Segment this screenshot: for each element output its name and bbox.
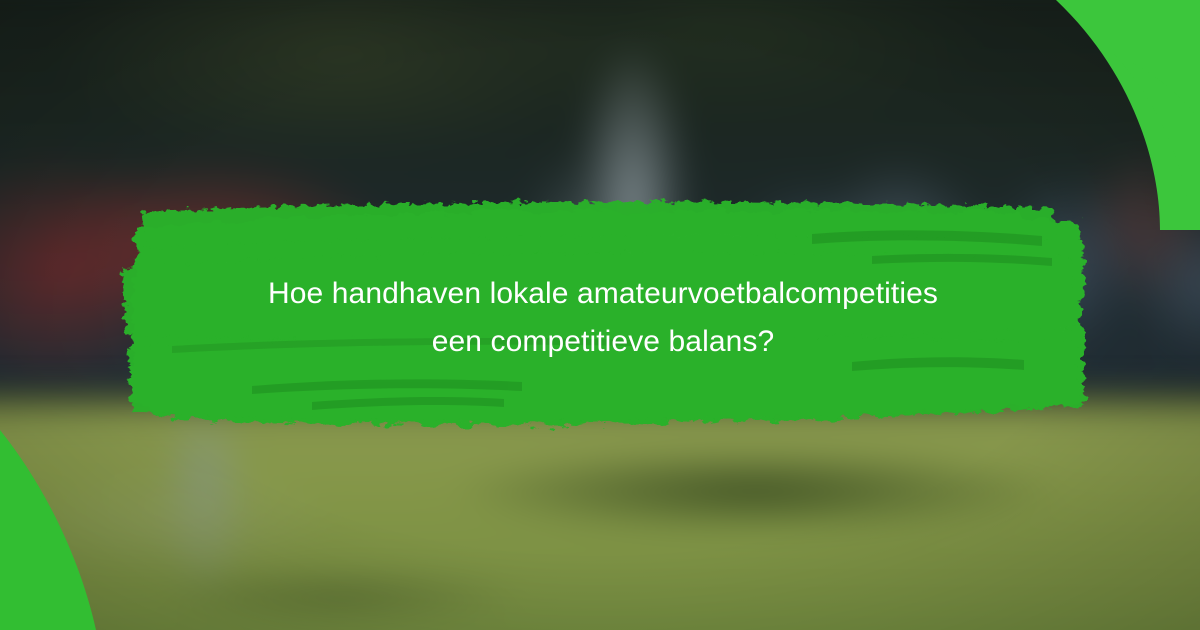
headline-line-1: Hoe handhaven lokale amateurvoetbalcompe… <box>164 270 1042 318</box>
headline-banner: Hoe handhaven lokale amateurvoetbalcompe… <box>112 196 1094 444</box>
headline-line-2: een competitieve balans? <box>164 318 1042 366</box>
share-card-canvas: Hoe handhaven lokale amateurvoetbalcompe… <box>0 0 1200 630</box>
page-title: Hoe handhaven lokale amateurvoetbalcompe… <box>112 270 1094 366</box>
